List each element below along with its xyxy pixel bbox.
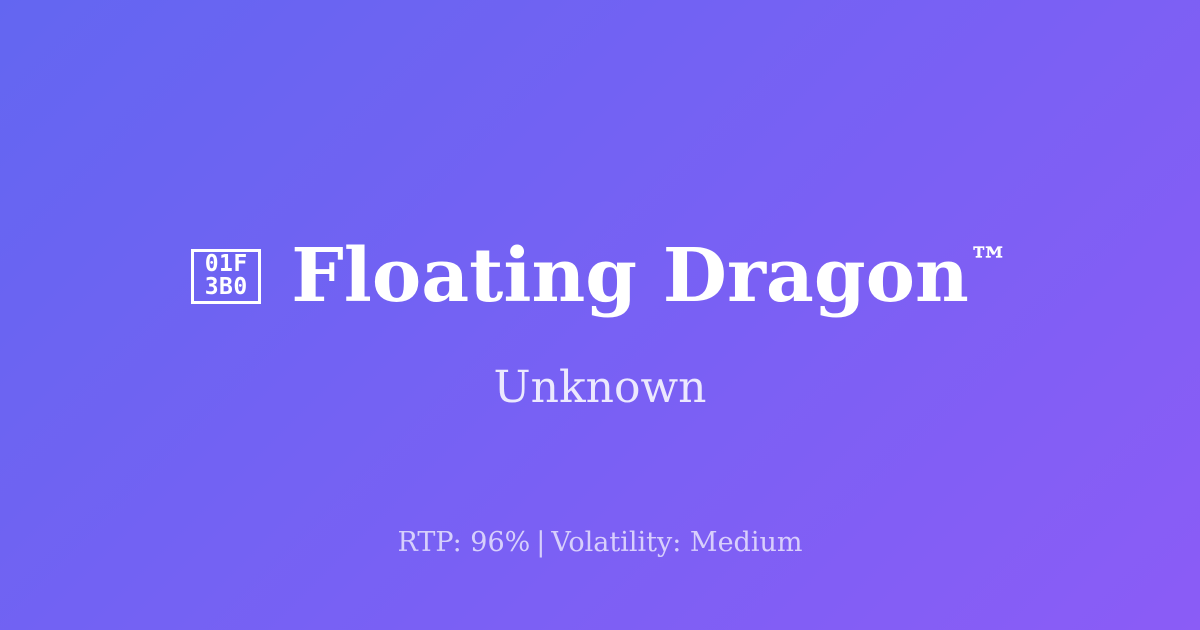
rtp-label: RTP: 96% [398,527,531,558]
tofu-codepoint-bottom: 3B0 [205,276,248,299]
provider-name: Unknown [0,362,1200,414]
page-title: Floating Dragon™ [291,239,1009,313]
trademark-symbol: ™ [969,238,1009,285]
title-row: 01F 3B0 Floating Dragon™ [0,228,1200,324]
slot-machine-icon: 01F 3B0 [191,249,261,304]
volatility-label: Volatility: Medium [551,527,802,558]
tofu-codepoint-top: 01F [205,253,248,276]
meta-separator: | [530,527,551,558]
game-title-text: Floating Dragon [291,233,969,319]
og-share-card: 01F 3B0 Floating Dragon™ Unknown RTP: 96… [0,0,1200,630]
game-meta: RTP: 96%|Volatility: Medium [0,526,1200,560]
